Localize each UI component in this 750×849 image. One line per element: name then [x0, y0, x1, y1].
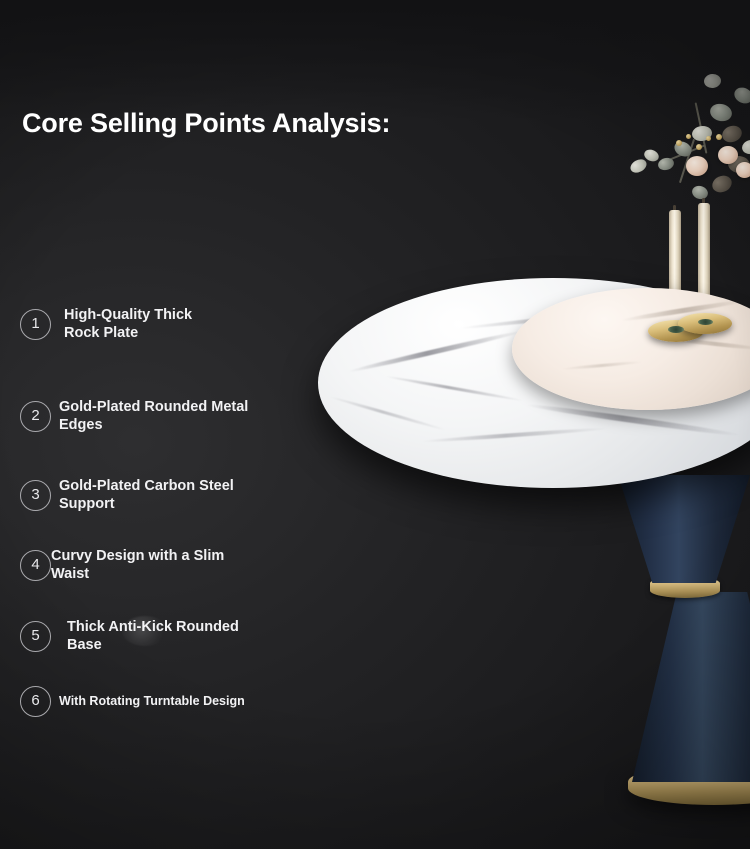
list-number-badge: 4: [20, 550, 51, 581]
page-title: Core Selling Points Analysis:: [22, 108, 390, 139]
list-item-label: Thick Anti-Kick Rounded Base: [67, 618, 239, 655]
list-number-badge: 6: [20, 686, 51, 717]
list-item-label: High-Quality Thick Rock Plate: [64, 306, 192, 343]
list-item: 3 Gold-Plated Carbon Steel Support: [20, 477, 234, 514]
list-item: 1 High-Quality Thick Rock Plate: [20, 306, 192, 343]
list-item-label: Gold-Plated Rounded Metal Edges: [59, 398, 248, 435]
list-item: 4 Curvy Design with a Slim Waist: [20, 547, 224, 584]
pedestal-lower-cone: [632, 592, 750, 782]
list-number-badge: 5: [20, 621, 51, 652]
product-feature-poster: Core Selling Points Analysis: 1 High-Qua…: [0, 0, 750, 849]
list-item: 6 With Rotating Turntable Design: [20, 686, 245, 717]
list-item: 2 Gold-Plated Rounded Metal Edges: [20, 398, 248, 435]
list-number-badge: 3: [20, 480, 51, 511]
product-image: [300, 20, 750, 820]
list-item-label: Gold-Plated Carbon Steel Support: [59, 477, 234, 514]
candle-holder-inlay: [668, 326, 684, 333]
pedestal-upper-cone: [618, 475, 750, 583]
list-number-badge: 1: [20, 309, 51, 340]
floral-arrangement-decor: [600, 30, 750, 220]
candle-holder-inlay: [698, 319, 713, 325]
list-item-label: Curvy Design with a Slim Waist: [51, 547, 224, 584]
list-item: 5 Thick Anti-Kick Rounded Base: [20, 618, 239, 655]
list-number-badge: 2: [20, 401, 51, 432]
list-item-label: With Rotating Turntable Design: [59, 694, 245, 710]
